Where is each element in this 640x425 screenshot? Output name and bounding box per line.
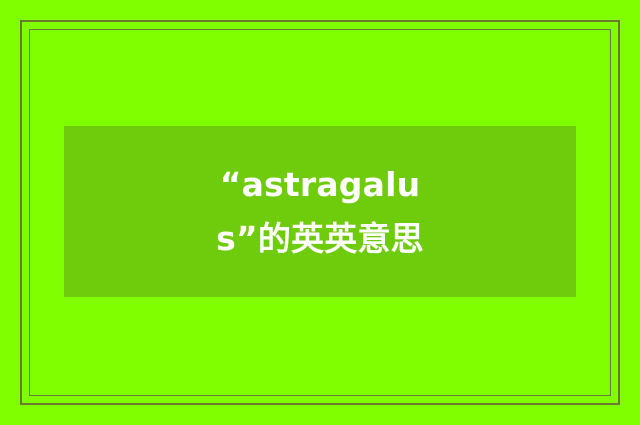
headline-panel: “astragalus”的英英意思 <box>64 126 576 297</box>
page-title: “astragalus”的英英意思 <box>185 158 455 265</box>
page-canvas: “astragalus”的英英意思 <box>0 0 640 425</box>
